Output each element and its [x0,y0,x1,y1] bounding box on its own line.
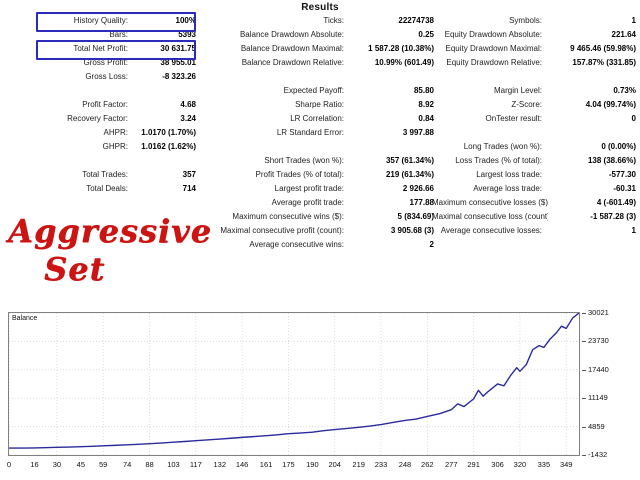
stat-row: Margin Level:0.73% [432,84,638,98]
stat-label: Maximum consecutive losses ($): [432,196,548,210]
stat-label: Largest profit trade: [200,182,350,196]
stat-row: Bars:5393 [2,28,202,42]
stats-column-right: Symbols:1Equity Drawdown Absolute:221.64… [432,14,638,238]
stat-value: 85.80 [350,84,440,98]
stat-row: Equity Drawdown Relative:157.87% (331.85… [432,56,638,70]
stat-value: -8 323.26 [134,70,202,84]
stat-row: Largest profit trade:2 926.66 [200,182,440,196]
chart-y-tick-label: 4859 [588,422,605,431]
stat-row: Profit Trades (% of total):219 (61.34%) [200,168,440,182]
chart-x-tick-label: 30 [53,460,61,469]
stat-row: Maximal consecutive loss (count):-1 587.… [432,210,638,224]
stat-row: Total Trades:357 [2,168,202,182]
stat-label: Profit Factor: [2,98,134,112]
stat-label: Ticks: [200,14,350,28]
stat-value: 221.64 [548,28,638,42]
stat-row: GHPR:1.0162 (1.62%) [2,140,202,154]
stat-value: 3 997.88 [350,126,440,140]
stat-group-spacer [200,140,440,154]
stat-value: 8.92 [350,98,440,112]
stat-row: Largest loss trade:-577.30 [432,168,638,182]
chart-x-tick-label: 190 [306,460,319,469]
stat-row: Balance Drawdown Maximal:1 587.28 (10.38… [200,42,440,56]
stat-group-spacer [432,70,638,84]
stat-label: Gross Profit: [2,56,134,70]
stat-row: Sharpe Ratio:8.92 [200,98,440,112]
stat-row: Balance Drawdown Relative:10.99% (601.49… [200,56,440,70]
stat-value: 9 465.46 (59.98%) [548,42,638,56]
chart-x-tick-label: 248 [399,460,412,469]
stat-label: LR Standard Error: [200,126,350,140]
chart-x-tick-label: 233 [375,460,388,469]
annotation-aggressive-line1: Aggressive [8,212,212,250]
stat-value: 714 [134,182,202,196]
stat-value: 357 [134,168,202,182]
stat-group-spacer [2,84,202,98]
stat-label: Z-Score: [432,98,548,112]
chart-x-tick-label: 204 [328,460,341,469]
stat-label: Equity Drawdown Maximal: [432,42,548,56]
stat-value: 219 (61.34%) [350,168,440,182]
stat-row: Z-Score:4.04 (99.74%) [432,98,638,112]
chart-x-tick-label: 0 [7,460,11,469]
chart-x-tick-label: 16 [30,460,38,469]
stat-label: Total Trades: [2,168,134,182]
chart-x-tick-label: 306 [491,460,504,469]
chart-y-tick-label: 30021 [588,308,609,317]
stat-value: 357 (61.34%) [350,154,440,168]
stat-value: -1 587.28 (3) [548,210,638,224]
stat-value: 0.84 [350,112,440,126]
chart-x-tick-label: 335 [538,460,551,469]
stat-value: 4 (-601.49) [548,196,638,210]
stat-label: LR Correlation: [200,112,350,126]
stat-value: 0.73% [548,84,638,98]
chart-x-tick-label: 117 [190,460,202,469]
chart-x-tick-label: 262 [421,460,434,469]
stat-label: Total Deals: [2,182,134,196]
chart-y-tick-label: 23730 [588,336,609,345]
stat-label: Equity Drawdown Absolute: [432,28,548,42]
stat-label: Balance Drawdown Maximal: [200,42,350,56]
stat-row: Balance Drawdown Absolute:0.25 [200,28,440,42]
stat-label: Sharpe Ratio: [200,98,350,112]
stat-value: 177.88 [350,196,440,210]
stat-value: 5393 [134,28,202,42]
page-title: Results [0,2,640,13]
stat-label: Margin Level: [432,84,548,98]
stat-row: Maximal consecutive profit (count):3 905… [200,224,440,238]
chart-x-tick-label: 219 [352,460,365,469]
stats-column-left: History Quality:100%Bars:5393Total Net P… [2,14,202,196]
stat-value: 22274738 [350,14,440,28]
stat-group-spacer [432,126,638,140]
stat-label: History Quality: [2,14,134,28]
chart-x-tick-label: 161 [260,460,273,469]
balance-chart: Balance [8,312,580,456]
stat-label: Recovery Factor: [2,112,134,126]
stat-label: Symbols: [432,14,548,28]
stat-value: 1.0162 (1.62%) [134,140,202,154]
stat-label: Maximum consecutive wins ($): [200,210,350,224]
chart-y-tick-label: 11149 [588,393,608,402]
stat-value: 30 631.75 [134,42,202,56]
stat-label: Profit Trades (% of total): [200,168,350,182]
chart-plot-area [9,313,579,455]
stat-row: OnTester result:0 [432,112,638,126]
chart-svg [9,313,579,455]
chart-x-tick-label: 74 [123,460,131,469]
stat-value: 0 (0.00%) [548,140,638,154]
stat-label: AHPR: [2,126,134,140]
stat-row: Recovery Factor:3.24 [2,112,202,126]
stat-label: Maximal consecutive profit (count): [200,224,350,238]
stat-label: Average loss trade: [432,182,548,196]
chart-series-balance [9,313,579,448]
chart-y-tick-label: 17440 [588,365,609,374]
chart-x-tick-label: 291 [467,460,480,469]
stat-value: 157.87% (331.85) [548,56,638,70]
stat-row: LR Correlation:0.84 [200,112,440,126]
chart-x-tick-label: 103 [167,460,180,469]
stat-row: Average consecutive wins:2 [200,238,440,252]
stat-value: 3 905.68 (3) [350,224,440,238]
chart-x-tick-label: 349 [560,460,573,469]
stat-value: 38 955.01 [134,56,202,70]
stat-value: -60.31 [548,182,638,196]
stat-value: 4.68 [134,98,202,112]
stat-value: 5 (834.69) [350,210,440,224]
stat-row: Gross Loss:-8 323.26 [2,70,202,84]
stat-value: 1 587.28 (10.38%) [350,42,440,56]
chart-x-tick-label: 132 [213,460,226,469]
stat-value: 1.0170 (1.70%) [134,126,202,140]
stat-row: Average loss trade:-60.31 [432,182,638,196]
stat-row: Long Trades (won %):0 (0.00%) [432,140,638,154]
chart-x-tick-label: 175 [282,460,295,469]
stat-label: Balance Drawdown Absolute: [200,28,350,42]
chart-x-tick-label: 45 [77,460,85,469]
stat-label: Gross Loss: [2,70,134,84]
stat-label: Bars: [2,28,134,42]
stat-label: Expected Payoff: [200,84,350,98]
stat-label: Average profit trade: [200,196,350,210]
stat-label: OnTester result: [432,112,548,126]
stat-row: Loss Trades (% of total):138 (38.66%) [432,154,638,168]
stat-row: Equity Drawdown Maximal:9 465.46 (59.98%… [432,42,638,56]
stat-value: 10.99% (601.49) [350,56,440,70]
chart-x-tick-label: 320 [514,460,527,469]
stat-value: 1 [548,224,638,238]
chart-x-tick-label: 146 [236,460,249,469]
stat-label: Equity Drawdown Relative: [432,56,548,70]
stat-row: Average profit trade:177.88 [200,196,440,210]
stat-row: Equity Drawdown Absolute:221.64 [432,28,638,42]
chart-x-axis: 0163045597488103117132146161175190204219… [0,458,640,474]
stat-label: Average consecutive wins: [200,238,350,252]
stat-label: Average consecutive losses: [432,224,548,238]
stat-row: Ticks:22274738 [200,14,440,28]
stat-row: Total Net Profit:30 631.75 [2,42,202,56]
stat-row: Short Trades (won %):357 (61.34%) [200,154,440,168]
stat-value: -577.30 [548,168,638,182]
chart-x-tick-label: 59 [99,460,107,469]
annotation-aggressive-line2: Set [44,250,105,288]
stat-row: Expected Payoff:85.80 [200,84,440,98]
stat-group-spacer [200,70,440,84]
stat-label: Long Trades (won %): [432,140,548,154]
stat-label: GHPR: [2,140,134,154]
chart-y-axis: 300212373017440111494859-1432 [582,312,638,458]
stat-value: 4.04 (99.74%) [548,98,638,112]
stat-row: Average consecutive losses:1 [432,224,638,238]
stat-row: Maximum consecutive wins ($):5 (834.69) [200,210,440,224]
stat-group-spacer [2,154,202,168]
stat-row: Total Deals:714 [2,182,202,196]
stat-label: Largest loss trade: [432,168,548,182]
stat-value: 1 [548,14,638,28]
stat-value: 0.25 [350,28,440,42]
stat-row: LR Standard Error:3 997.88 [200,126,440,140]
stat-value: 100% [134,14,202,28]
chart-x-tick-label: 277 [445,460,458,469]
stat-value: 2 [350,238,440,252]
stat-value: 2 926.66 [350,182,440,196]
stats-column-middle: Ticks:22274738Balance Drawdown Absolute:… [200,14,440,252]
stat-label: Short Trades (won %): [200,154,350,168]
chart-x-tick-label: 88 [145,460,153,469]
stat-value: 3.24 [134,112,202,126]
stat-label: Balance Drawdown Relative: [200,56,350,70]
stat-row: History Quality:100% [2,14,202,28]
stat-row: Gross Profit:38 955.01 [2,56,202,70]
stat-row: Profit Factor:4.68 [2,98,202,112]
stat-label: Maximal consecutive loss (count): [432,210,548,224]
stat-value: 0 [548,112,638,126]
stat-row: AHPR:1.0170 (1.70%) [2,126,202,140]
stat-value: 138 (38.66%) [548,154,638,168]
stat-label: Loss Trades (% of total): [432,154,548,168]
stat-label: Total Net Profit: [2,42,134,56]
stat-row: Maximum consecutive losses ($):4 (-601.4… [432,196,638,210]
stat-row: Symbols:1 [432,14,638,28]
